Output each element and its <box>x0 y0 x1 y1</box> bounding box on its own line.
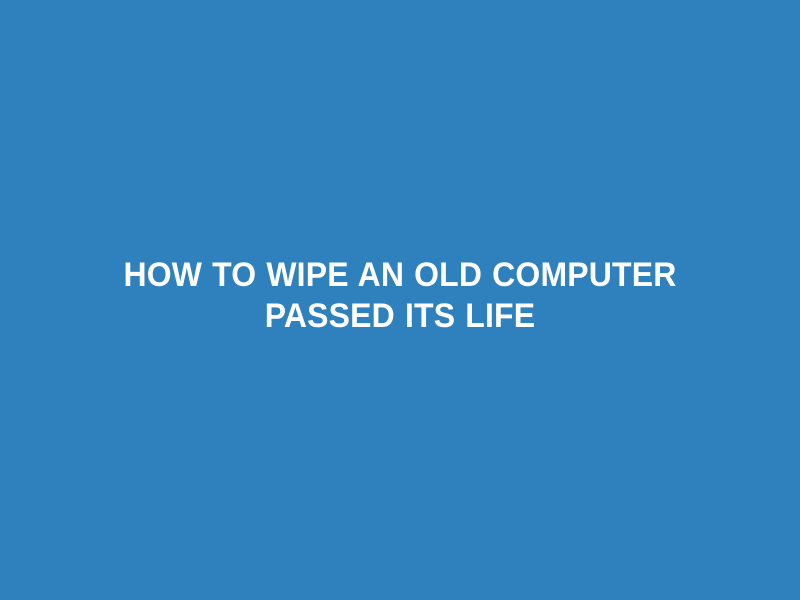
title-text-block: HOW TO WIPE AN OLD COMPUTER PASSED ITS L… <box>40 255 760 337</box>
page-title: HOW TO WIPE AN OLD COMPUTER PASSED ITS L… <box>62 255 739 337</box>
title-card: HOW TO WIPE AN OLD COMPUTER PASSED ITS L… <box>0 0 800 600</box>
